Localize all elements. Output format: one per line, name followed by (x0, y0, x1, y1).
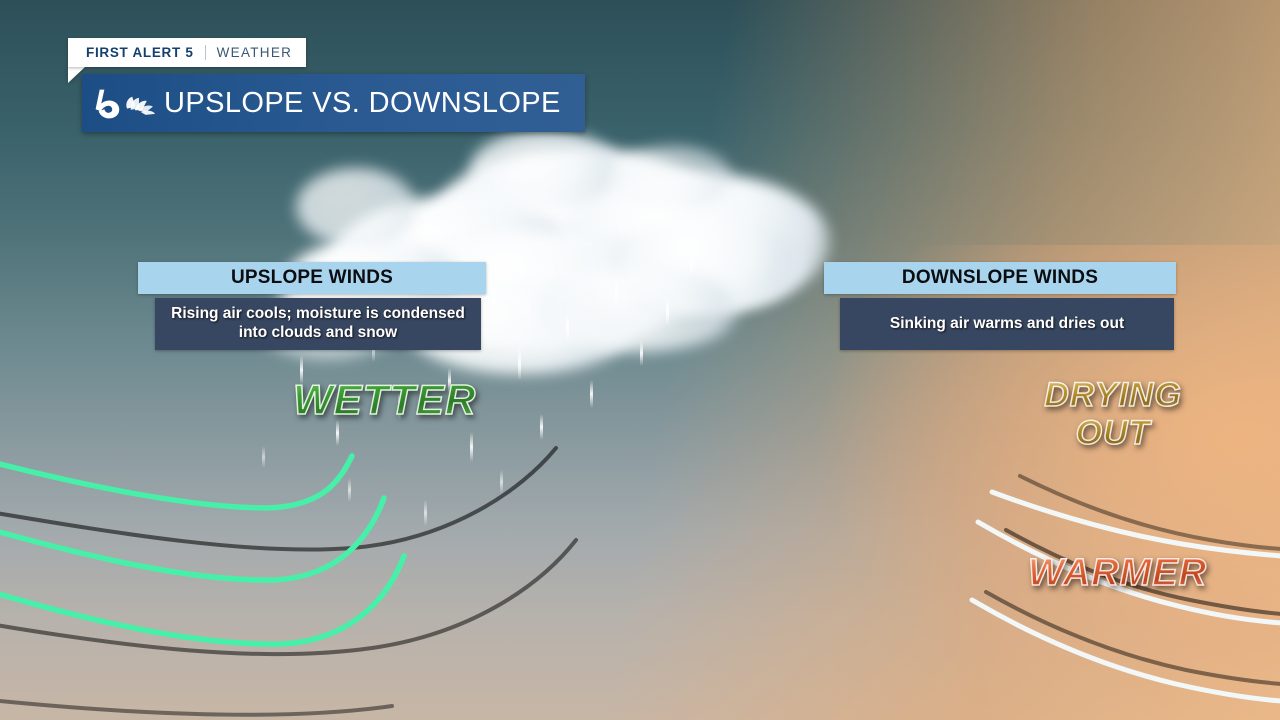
upslope-callout-heading: UPSLOPE WINDS (138, 262, 486, 294)
warmer-label: WARMER (1028, 552, 1207, 595)
brand-divider (205, 45, 206, 60)
weather-graphic: FIRST ALERT 5 WEATHER UPSLOPE VS. DOWNSL… (0, 0, 1280, 720)
brand-label: FIRST ALERT 5 (86, 45, 194, 60)
out-label: OUT (1030, 416, 1196, 452)
header-brand-tag: FIRST ALERT 5 WEATHER (68, 38, 306, 67)
wetter-label: WETTER (293, 376, 476, 424)
title-banner: UPSLOPE VS. DOWNSLOPE (82, 74, 585, 132)
upslope-callout-body: Rising air cools; moisture is condensed … (155, 298, 481, 350)
page-title: UPSLOPE VS. DOWNSLOPE (164, 87, 561, 120)
downslope-callout-body: Sinking air warms and dries out (840, 298, 1174, 350)
nbc5-peacock-logo (93, 84, 155, 122)
drying-label: DRYING (1030, 378, 1196, 414)
drying-out-label: DRYING OUT (1030, 378, 1196, 451)
section-label: WEATHER (217, 45, 293, 60)
downslope-callout-heading: DOWNSLOPE WINDS (824, 262, 1176, 294)
